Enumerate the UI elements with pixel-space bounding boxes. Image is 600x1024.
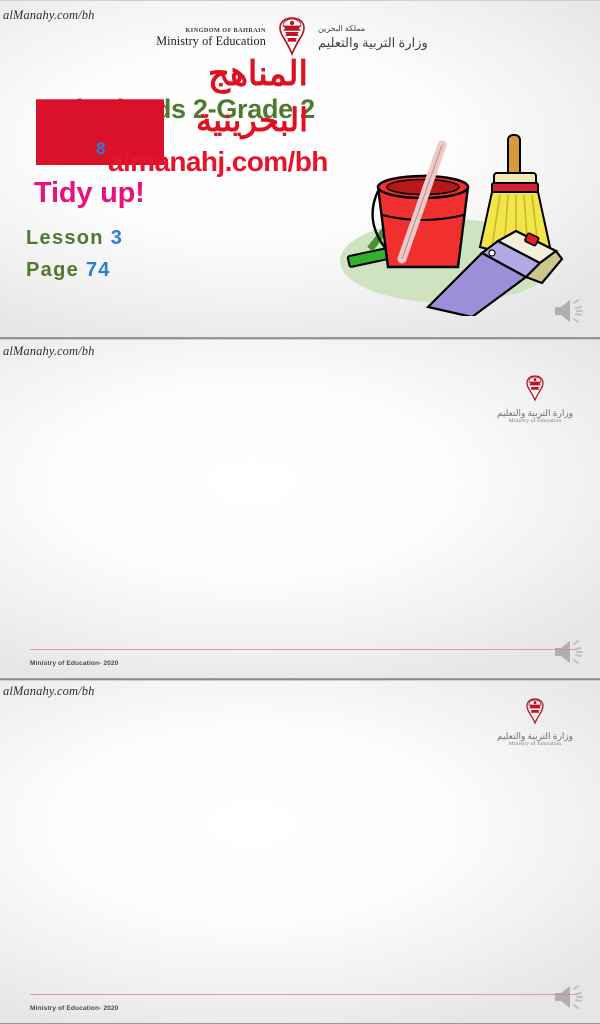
slide-deck: alManahy.com/bh KINGDOM OF BAHRAIN Minis… [0, 0, 600, 1024]
slide-3-vocabulary[interactable]: alManahy.com/bh وزارة التربية والتعليم M… [0, 680, 600, 1024]
slide-2-objectives[interactable]: alManahy.com/bh وزارة التربية والتعليم M… [0, 339, 600, 679]
page-line: Page 74 [26, 259, 111, 282]
speaker-icon[interactable] [552, 638, 586, 666]
site-watermark: alManahy.com/bh [3, 344, 94, 359]
kingdom-label-arabic: مملكة البحرين [318, 24, 428, 34]
cleaning-supplies-clipart [330, 131, 580, 316]
footer-divider [30, 649, 578, 650]
arabic-watermark-line1: المناهج [208, 54, 308, 94]
ministry-corner-logo: وزارة التربية والتعليم Ministry of Educa… [492, 374, 578, 425]
ministry-label-arabic: وزارة التربية والتعليم [318, 35, 428, 52]
arabic-watermark-line2: البحرينية [196, 101, 308, 139]
kingdom-label: KINGDOM OF BAHRAIN [156, 27, 266, 35]
ministry-label-arabic: وزارة التربية والتعليم [492, 732, 578, 741]
footer-credit: Ministry of Education- 2020 [30, 1005, 118, 1012]
ministry-label: Ministry of Education [156, 34, 266, 49]
site-watermark-large: almanahj.com/bh [108, 146, 328, 178]
ministry-label: Ministry of Education [492, 742, 578, 748]
lesson-heading: Tidy up! [34, 177, 145, 210]
slide-1-title[interactable]: alManahy.com/bh KINGDOM OF BAHRAIN Minis… [0, 0, 600, 338]
bahrain-emblem-icon [492, 374, 578, 406]
page-label: Page [26, 259, 79, 281]
site-watermark: alManahy.com/bh [3, 684, 94, 699]
footer-credit: Ministry of Education- 2020 [30, 660, 118, 667]
unit-number: 8 [96, 139, 105, 159]
speaker-icon[interactable] [552, 297, 586, 325]
ministry-corner-logo: وزارة التربية والتعليم Ministry of Educa… [492, 697, 578, 748]
site-watermark: alManahy.com/bh [3, 8, 94, 23]
ministry-name-arabic: مملكة البحرين وزارة التربية والتعليم [318, 24, 428, 51]
bahrain-emblem-icon [492, 697, 578, 729]
lesson-label: Lesson [26, 227, 104, 249]
ministry-label: Ministry of Education [492, 419, 578, 425]
ministry-name-english: KINGDOM OF BAHRAIN Ministry of Education [156, 27, 266, 50]
speaker-icon[interactable] [552, 983, 586, 1011]
lesson-number: 3 [111, 227, 123, 249]
footer-divider [30, 994, 578, 995]
ministry-label-arabic: وزارة التربية والتعليم [492, 409, 578, 418]
page-number: 74 [86, 259, 111, 281]
lesson-line: Lesson 3 [26, 227, 123, 250]
